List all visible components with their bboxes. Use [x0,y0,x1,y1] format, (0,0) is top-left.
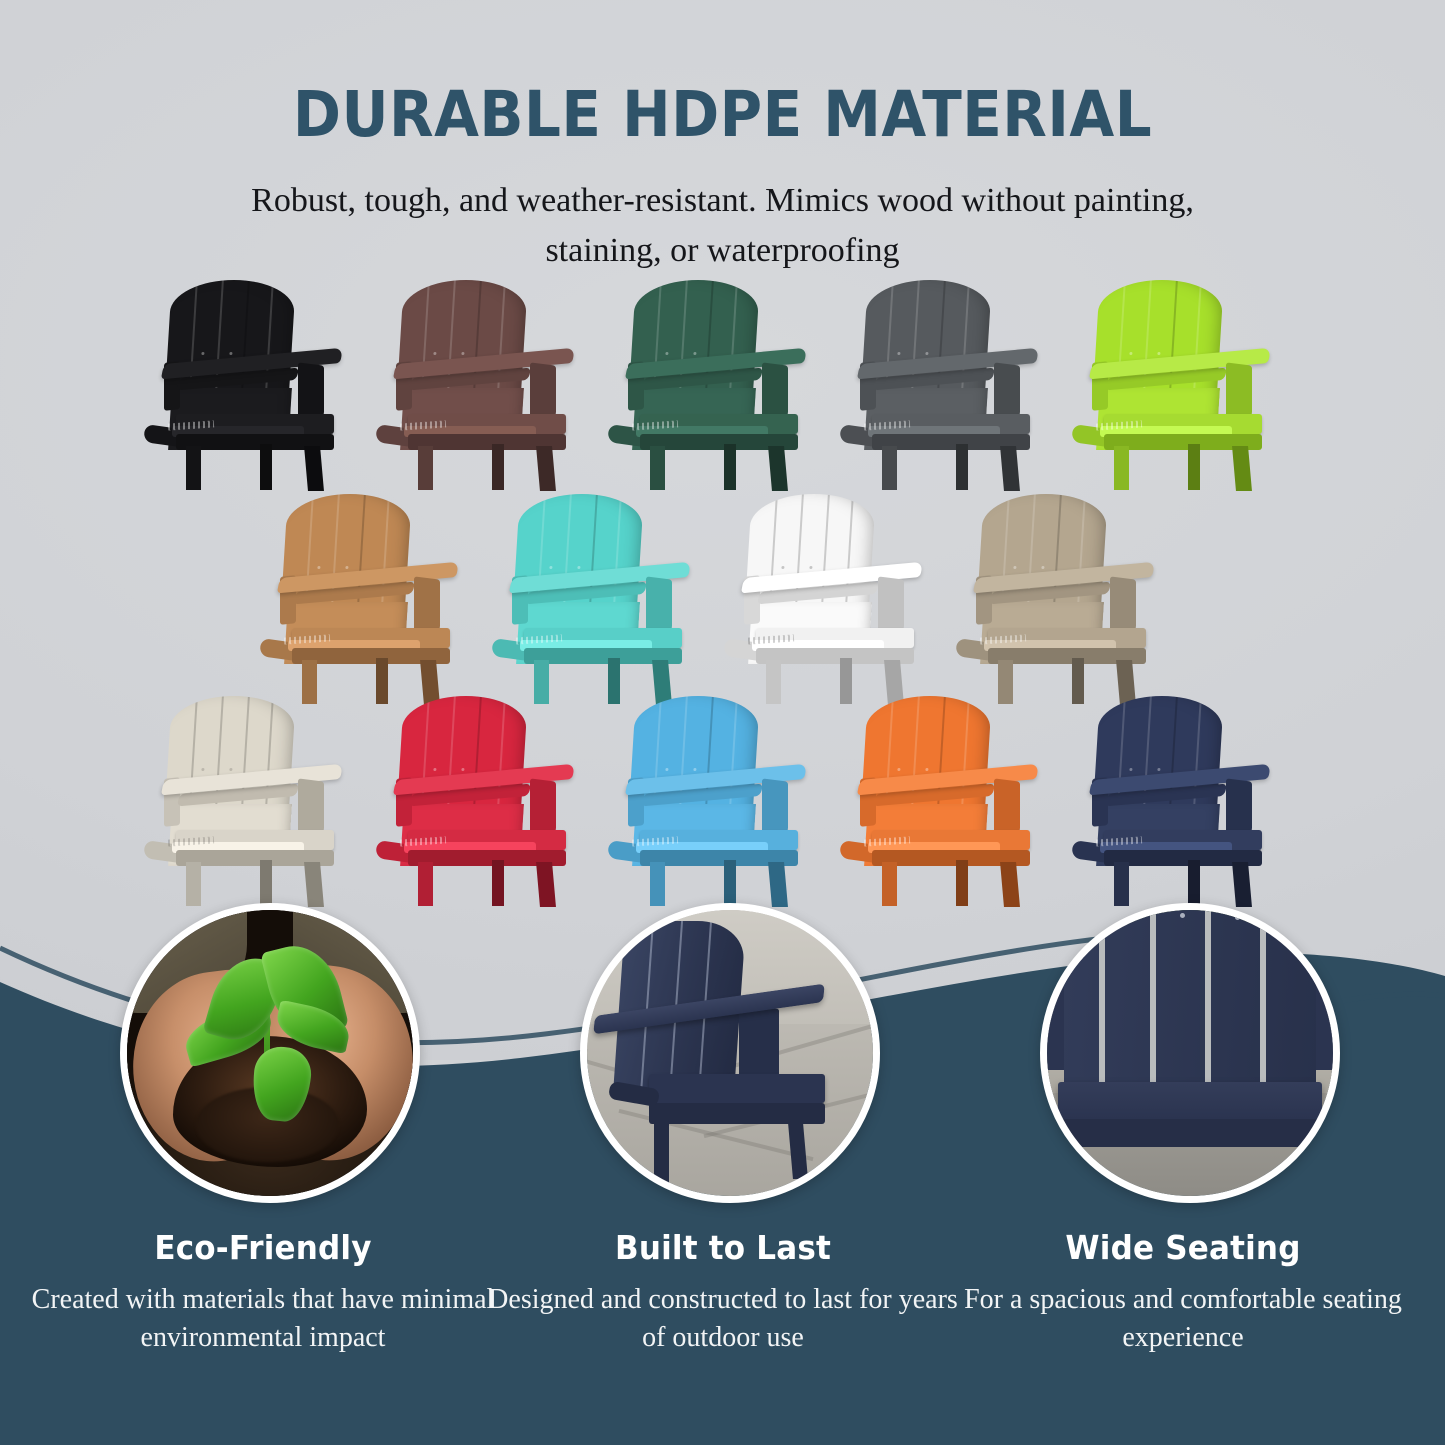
chair-figure [1068,692,1300,907]
chair-figure [604,692,836,907]
navy-chair-patio-photo [587,910,873,1196]
chair-orange[interactable] [836,692,1068,907]
chair-turquoise[interactable] [488,490,720,705]
feature-title: Eco-Friendly [42,1228,484,1267]
chair-figure [140,276,372,491]
feature-description: Created with materials that have minimal… [28,1281,498,1357]
navy-chair-seat-closeup-photo [1047,910,1333,1196]
chair-figure [836,276,1068,491]
feature-image-built-to-last [580,903,880,1203]
chair-gray[interactable] [836,276,1068,491]
feature-built-to-last: Built to Last Designed and constructed t… [488,1228,958,1357]
chair-figure [836,692,1068,907]
hands-seedling-photo [127,910,413,1196]
chair-white[interactable] [720,490,952,705]
chair-navy-blue[interactable] [1068,692,1300,907]
feature-title: Wide Seating [962,1228,1404,1267]
chair-figure [140,692,372,907]
feature-description: Designed and constructed to last for yea… [488,1281,958,1357]
chair-brown[interactable] [372,276,604,491]
page-title: DURABLE HDPE MATERIAL [58,78,1387,151]
chair-weathered-wood[interactable] [952,490,1184,705]
chair-figure [372,276,604,491]
chair-red[interactable] [372,692,604,907]
feature-title: Built to Last [502,1228,944,1267]
color-swatch-grid [0,262,1445,922]
chair-light-blue[interactable] [604,692,836,907]
feature-wide-seating: Wide Seating For a spacious and comforta… [948,1228,1418,1357]
chair-dark-green[interactable] [604,276,836,491]
chair-figure [952,490,1184,705]
chair-figure [1068,276,1300,491]
feature-image-eco-friendly [120,903,420,1203]
chair-black[interactable] [140,276,372,491]
chair-ivory[interactable] [140,692,372,907]
chair-lime-green[interactable] [1068,276,1300,491]
chair-figure [372,692,604,907]
feature-image-wide-seating [1040,903,1340,1203]
chair-figure [488,490,720,705]
feature-eco-friendly: Eco-Friendly Created with materials that… [28,1228,498,1357]
chair-teak[interactable] [256,490,488,705]
feature-description: For a spacious and comfortable seating e… [948,1281,1418,1357]
chair-figure [256,490,488,705]
chair-figure [720,490,952,705]
infographic-canvas: DURABLE HDPE MATERIAL Robust, tough, and… [0,0,1445,1445]
chair-figure [604,276,836,491]
